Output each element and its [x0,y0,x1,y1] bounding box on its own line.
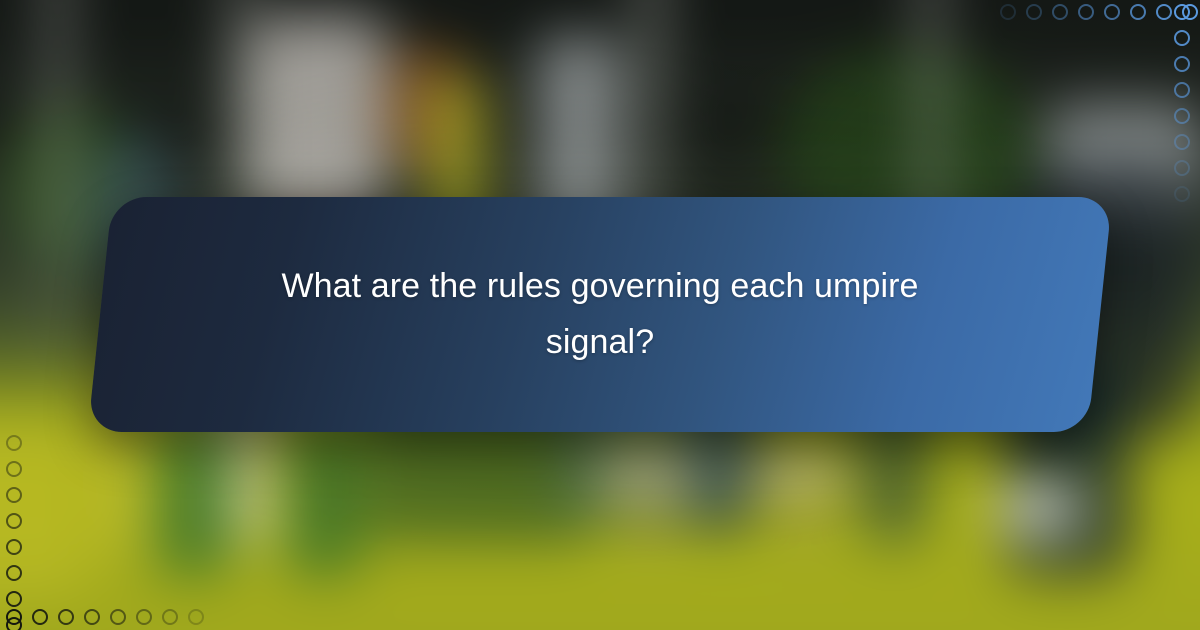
question-card: What are the rules governing each umpire… [100,197,1100,432]
decorative-ring [1104,4,1120,20]
decorative-ring [1174,30,1190,46]
decorative-ring [6,565,22,581]
decorative-ring [6,539,22,555]
decorative-ring [6,487,22,503]
decorative-ring [162,609,178,625]
question-card-content: What are the rules governing each umpire… [100,197,1100,432]
decorative-ring [1156,4,1172,20]
decorative-ring [1130,4,1146,20]
decorative-ring [136,609,152,625]
decorative-ring [1174,4,1190,20]
decorative-ring [1078,4,1094,20]
decorative-ring [32,609,48,625]
screenshot-root: What are the rules governing each umpire… [0,0,1200,630]
decorative-ring [6,435,22,451]
decorative-ring [1026,4,1042,20]
decorative-ring [1174,108,1190,124]
question-title: What are the rules governing each umpire… [235,259,965,369]
decorative-ring [1052,4,1068,20]
decorative-ring [6,461,22,477]
decorative-ring [6,609,22,625]
decorative-ring [1174,186,1190,202]
decorative-ring [84,609,100,625]
decorative-ring [188,609,204,625]
decorative-ring [1174,56,1190,72]
decorative-ring [1174,82,1190,98]
decorative-ring [6,513,22,529]
decorative-ring [1174,134,1190,150]
decorative-ring [6,591,22,607]
decorative-ring [58,609,74,625]
decorative-ring [110,609,126,625]
decorative-ring [1174,160,1190,176]
decorative-ring [1000,4,1016,20]
